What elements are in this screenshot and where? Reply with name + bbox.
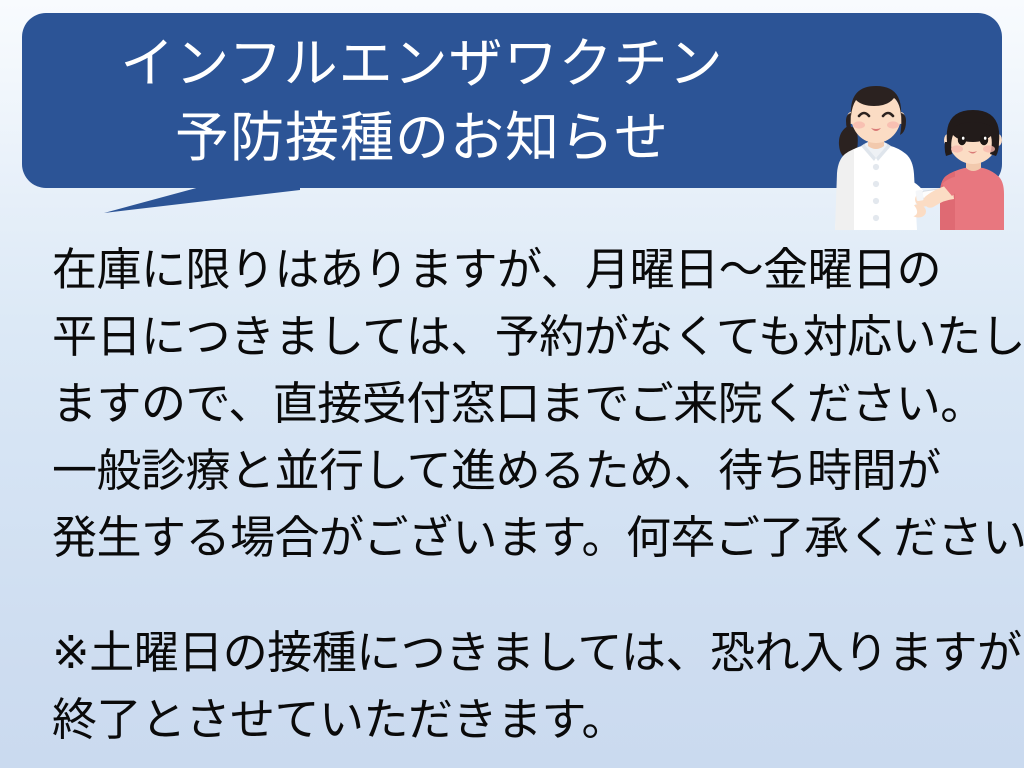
saturday-notice-line: 終了とさせていただきます。 xyxy=(52,686,1012,753)
paragraph-spacer xyxy=(52,571,1012,619)
notice-line: 一般診療と並行して進めるため、待ち時間が xyxy=(52,437,1012,504)
notice-line: 在庫に限りはありますが、月曜日〜金曜日の xyxy=(52,236,1012,303)
notice-line: 平日につきましては、予約がなくても対応いたし xyxy=(52,303,1012,370)
title-line-1: インフルエンザワクチン xyxy=(120,27,723,101)
notice-body: 在庫に限りはありますが、月曜日〜金曜日の 平日につきましては、予約がなくても対応… xyxy=(52,236,1012,753)
poster-canvas: インフルエンザワクチン 予防接種のお知らせ xyxy=(0,0,1024,768)
saturday-notice-line: ※土曜日の接種につきましては、恐れ入りますが xyxy=(52,619,1012,686)
header-speech-bubble: インフルエンザワクチン 予防接種のお知らせ xyxy=(0,0,1024,232)
title-line-2: 予防接種のお知らせ xyxy=(175,101,669,175)
notice-line: 発生する場合がございます。何卒ご了承ください。 xyxy=(52,504,1012,571)
notice-line: ますので、直接受付窓口までご来院ください。 xyxy=(52,370,1012,437)
page-title: インフルエンザワクチン 予防接種のお知らせ xyxy=(22,18,822,183)
nurse-vaccinating-child-illustration xyxy=(826,80,1016,230)
